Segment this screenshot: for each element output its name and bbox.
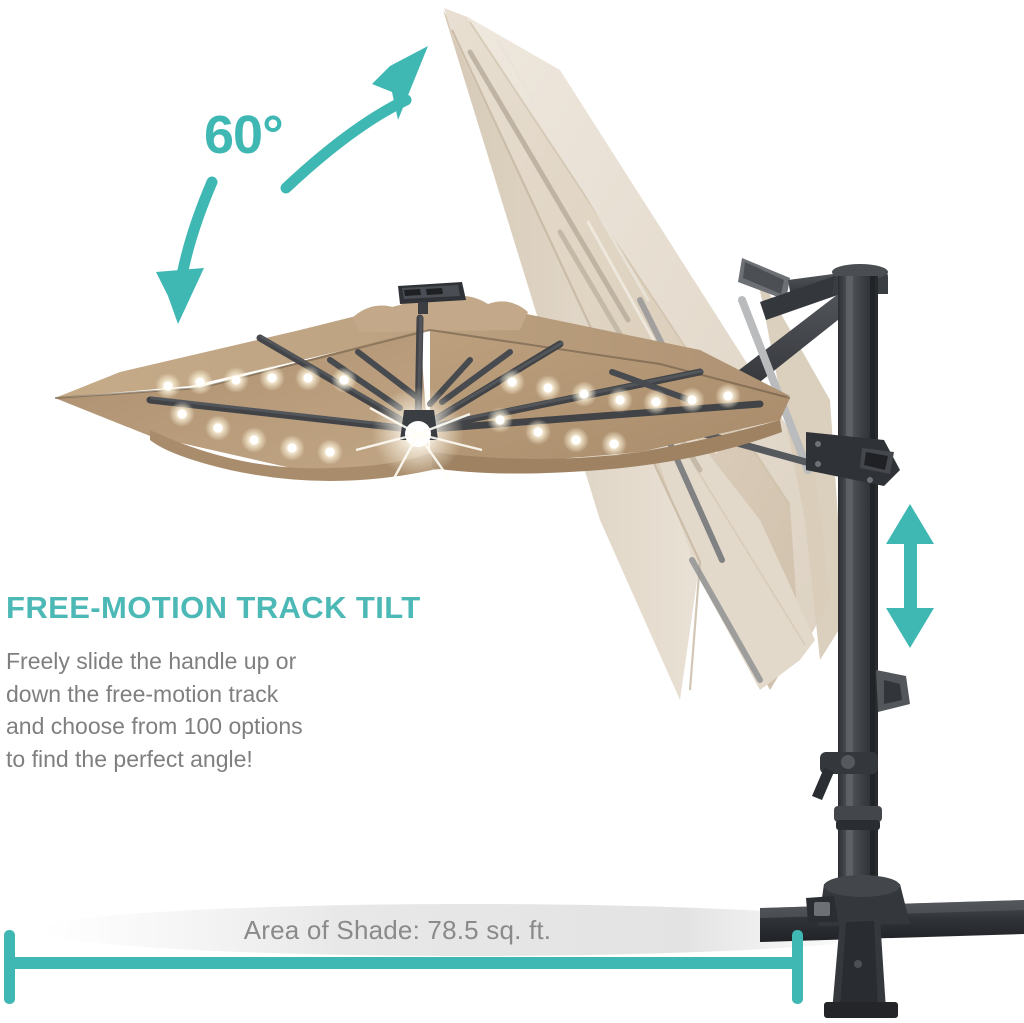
feature-description-line-1: Freely slide the handle up or xyxy=(6,645,436,678)
feature-description-line-3: and choose from 100 options xyxy=(6,710,436,743)
tilt-arc-down-arrow xyxy=(156,182,212,324)
secondary-handle[interactable] xyxy=(876,670,910,712)
feature-description: Freely slide the handle up or down the f… xyxy=(6,645,436,776)
feature-description-line-2: down the free-motion track xyxy=(6,678,436,711)
feature-description-line-4: to find the perfect angle! xyxy=(6,743,436,776)
umbrella-illustration xyxy=(0,0,1024,1023)
tilt-angle-label: 60° xyxy=(204,108,283,162)
feature-heading: FREE-MOTION TRACK TILT xyxy=(6,592,421,625)
track-slide-double-arrow xyxy=(886,504,934,648)
product-feature-image: 60° FREE-MOTION TRACK TILT Freely slide … xyxy=(0,0,1024,1023)
tilt-arc-up-arrow xyxy=(286,46,428,188)
area-of-shade-caption: Area of Shade: 78.5 sq. ft. xyxy=(0,915,795,946)
base-latch[interactable] xyxy=(806,896,838,922)
